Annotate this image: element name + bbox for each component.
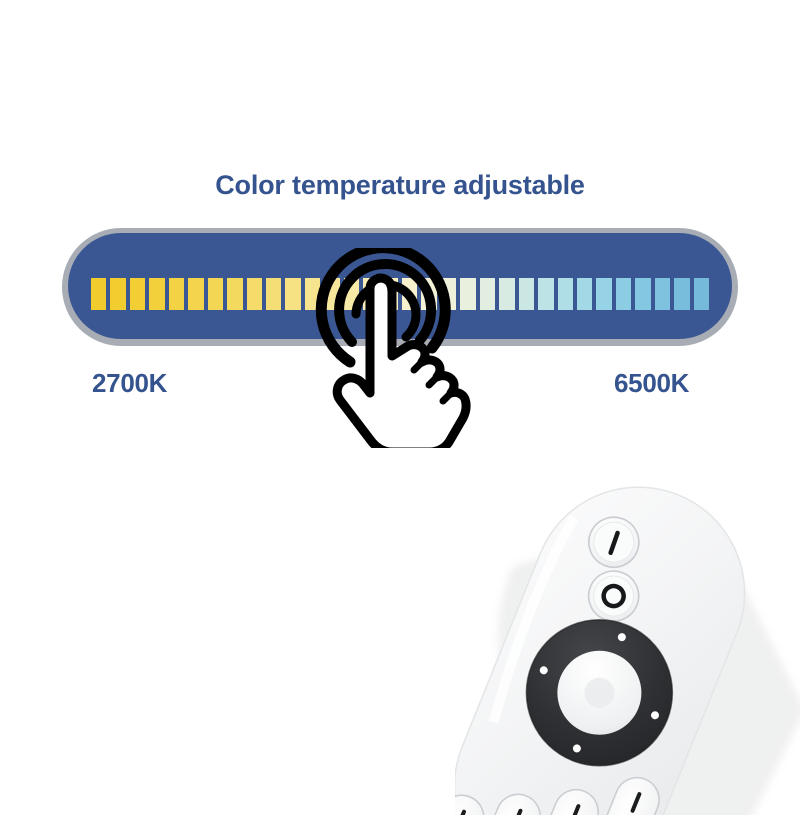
slider-segment[interactable] — [266, 278, 281, 310]
slider-track-outer — [62, 228, 738, 346]
slider-segment[interactable] — [208, 278, 223, 310]
slider-segment[interactable] — [519, 278, 534, 310]
slider-segment[interactable] — [227, 278, 242, 310]
slider-segment[interactable] — [480, 278, 495, 310]
scene: Color temperature adjustable 2700K 6500K — [0, 0, 800, 800]
slider-segment[interactable] — [91, 278, 106, 310]
slider-segment[interactable] — [635, 278, 650, 310]
slider-segment[interactable] — [674, 278, 689, 310]
slider-segments[interactable] — [91, 278, 709, 310]
slider-segment[interactable] — [616, 278, 631, 310]
slider-segment[interactable] — [694, 278, 709, 310]
slider-segment[interactable] — [577, 278, 592, 310]
slider-segment[interactable] — [324, 278, 339, 310]
slider-segment[interactable] — [441, 278, 456, 310]
slider-segment[interactable] — [383, 278, 398, 310]
rf-remote-control[interactable]: 4 3 2 — [455, 470, 800, 815]
slider-segment[interactable] — [499, 278, 514, 310]
slider-segment[interactable] — [130, 278, 145, 310]
slider-segment[interactable] — [655, 278, 670, 310]
slider-segment[interactable] — [460, 278, 475, 310]
page-title: Color temperature adjustable — [0, 170, 800, 201]
slider-segment[interactable] — [149, 278, 164, 310]
slider-low-label: 2700K — [92, 368, 167, 399]
slider-segment[interactable] — [110, 278, 125, 310]
slider-track-inner[interactable] — [68, 233, 732, 339]
slider-segment[interactable] — [363, 278, 378, 310]
slider-segment[interactable] — [285, 278, 300, 310]
slider-high-label: 6500K — [614, 368, 689, 399]
slider-segment[interactable] — [402, 278, 417, 310]
slider-segment[interactable] — [344, 278, 359, 310]
color-temperature-slider[interactable] — [62, 228, 738, 346]
slider-segment[interactable] — [169, 278, 184, 310]
slider-segment[interactable] — [421, 278, 436, 310]
slider-segment[interactable] — [596, 278, 611, 310]
slider-segment[interactable] — [188, 278, 203, 310]
slider-segment[interactable] — [558, 278, 573, 310]
slider-segment[interactable] — [538, 278, 553, 310]
slider-segment[interactable] — [247, 278, 262, 310]
slider-segment[interactable] — [305, 278, 320, 310]
